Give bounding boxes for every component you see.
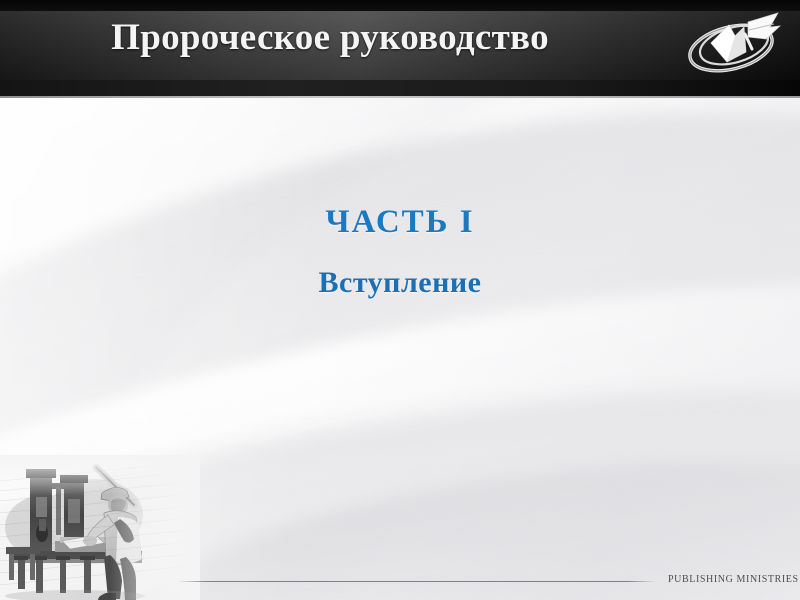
antique-printing-press-engraving (0, 455, 200, 600)
slide-header-bar: Пророческое руководство (0, 0, 800, 98)
header-divider-line (0, 96, 800, 98)
book-quill-orbit-logo (682, 6, 786, 80)
quill-feather-icon (745, 13, 780, 49)
presentation-slide: Пророческое руководство ЧАСТЬ I Вступле (0, 0, 800, 600)
part-label: ЧАСТЬ I (0, 206, 800, 239)
footer-divider-line (178, 581, 656, 582)
slide-center-content: ЧАСТЬ I Вступление (0, 206, 800, 298)
part-subtitle: Вступление (0, 268, 800, 298)
header-top-strip (0, 0, 800, 11)
page-title: Пророческое руководство (0, 16, 660, 59)
header-bottom-strip (0, 80, 800, 96)
footer-brand-label: PUBLISHING MINISTRIES (668, 574, 799, 585)
